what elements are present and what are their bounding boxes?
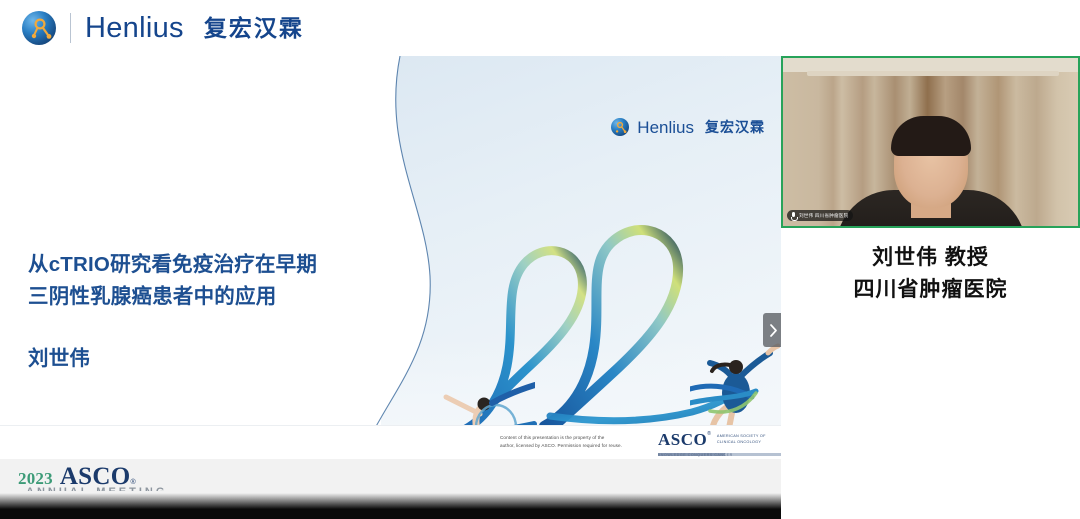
shared-screen-stage[interactable]: Henlius 复宏汉霖 从cTRIO研究看免疫治疗在早期 三阴性乳腺癌患者中的… bbox=[0, 56, 781, 459]
asco-sub-line-1: AMERICAN SOCIETY OF bbox=[717, 434, 766, 440]
bottom-fade bbox=[0, 493, 781, 519]
microphone-icon bbox=[791, 212, 796, 220]
slide-brand-name-cn: 复宏汉霖 bbox=[705, 120, 765, 134]
video-ceiling bbox=[783, 58, 1078, 72]
blinds-rail bbox=[807, 71, 1059, 76]
slide-title-line-2: 三阴性乳腺癌患者中的应用 bbox=[28, 281, 388, 313]
slide-footer-copyright-line-1: Content of this presentation is the prop… bbox=[500, 434, 660, 442]
chevron-right-icon bbox=[769, 324, 778, 337]
top-brand-bar: Henlius 复宏汉霖 bbox=[0, 0, 1080, 56]
speaker-caption: 刘世伟 教授 四川省肿瘤医院 bbox=[781, 242, 1080, 305]
asco-sub-line-2: CLINICAL ONCOLOGY bbox=[717, 440, 766, 446]
right-panel: 刘世伟 四川省肿瘤医院 刘世伟 教授 四川省肿瘤医院 bbox=[781, 56, 1080, 519]
slide-footer-asco-word: ASCO bbox=[658, 431, 707, 448]
slide-footer-asco-tm: ® bbox=[707, 431, 711, 437]
asco-trademark: ® bbox=[130, 479, 135, 486]
slide-brand-name: Henlius bbox=[637, 119, 694, 136]
slide-footer-copyright: Content of this presentation is the prop… bbox=[500, 434, 660, 450]
brand-name-cn: 复宏汉霖 bbox=[204, 17, 304, 40]
slide-footer-asco-logo: ASCO ® AMERICAN SOCIETY OF CLINICAL ONCO… bbox=[658, 431, 766, 448]
speaker-caption-line-2: 四川省肿瘤医院 bbox=[781, 274, 1080, 306]
slide-footer-asco-tagline: KNOWLEDGE CONQUERS CANCER bbox=[658, 453, 733, 457]
slide-title-line-1: 从cTRIO研究看免疫治疗在早期 bbox=[28, 249, 388, 281]
speaker-video-tile[interactable]: 刘世伟 四川省肿瘤医院 bbox=[781, 56, 1080, 228]
slide-speaker-name: 刘世伟 bbox=[28, 341, 388, 371]
host-bottom-bar: 2023 ASCO ® ANNUAL MEETING bbox=[0, 459, 781, 519]
participant-name-badge: 刘世伟 四川省肿瘤医院 bbox=[787, 210, 853, 221]
molecule-glyph-small bbox=[615, 121, 627, 134]
brand-divider bbox=[70, 13, 71, 43]
slide-footer: Content of this presentation is the prop… bbox=[0, 425, 781, 459]
molecule-glyph bbox=[30, 17, 52, 41]
brand-name: Henlius bbox=[85, 14, 184, 43]
presentation-slide: Henlius 复宏汉霖 从cTRIO研究看免疫治疗在早期 三阴性乳腺癌患者中的… bbox=[0, 56, 781, 459]
participant-name-text: 刘世伟 四川省肿瘤医院 bbox=[799, 213, 848, 219]
slide-footer-asco-subtitle: AMERICAN SOCIETY OF CLINICAL ONCOLOGY bbox=[717, 434, 766, 445]
webinar-screen: Henlius 复宏汉霖 bbox=[0, 0, 1080, 519]
speaker-caption-line-1: 刘世伟 教授 bbox=[781, 242, 1080, 274]
slide-brand-logo: Henlius 复宏汉霖 bbox=[611, 118, 765, 136]
right-panel-filler bbox=[781, 376, 1080, 519]
slide-title-block: 从cTRIO研究看免疫治疗在早期 三阴性乳腺癌患者中的应用 刘世伟 bbox=[28, 249, 388, 371]
next-slide-button[interactable] bbox=[763, 313, 781, 347]
henlius-molecule-logo-icon bbox=[22, 11, 56, 45]
slide-footer-copyright-line-2: author, licensed by ASCO. Permission req… bbox=[500, 442, 660, 450]
